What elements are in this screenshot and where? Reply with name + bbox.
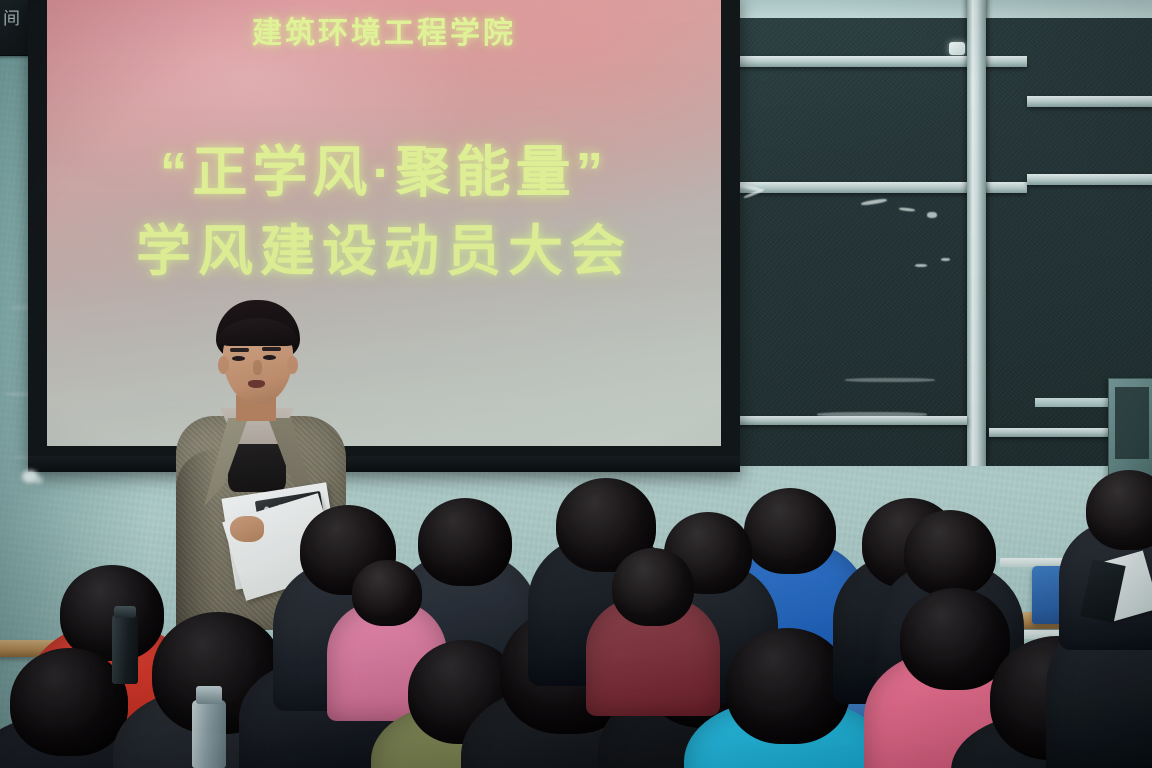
sliding-blackboard [727, 0, 1152, 466]
thermos-cap [114, 606, 136, 618]
wall-light-reflection [34, 476, 43, 484]
presenter-ear [287, 356, 298, 374]
chalk-smear [845, 378, 935, 382]
water-bottle [192, 700, 226, 768]
blackboard-rail [1027, 96, 1152, 107]
presenter-mouth [248, 380, 265, 388]
blackboard-rail [1027, 174, 1152, 185]
presenter-eye [232, 356, 245, 361]
student-pink-jacket-head [352, 560, 422, 626]
board-light-fixture [949, 42, 965, 55]
blackboard-mullion [967, 0, 986, 466]
screen-vignette [47, 0, 721, 446]
classroom-photo: 间 建筑环境工程学院 “正学风·聚能量” 学风建设动员大会 [0, 0, 1152, 768]
student-maroon-head [612, 548, 694, 626]
student-back-right-head [904, 510, 996, 596]
blackboard-texture [727, 0, 1152, 466]
projection-screen-surface: 建筑环境工程学院 “正学风·聚能量” 学风建设动员大会 [47, 0, 721, 446]
presenter-side-shadow [176, 450, 216, 630]
thermos-bottle [112, 614, 138, 684]
student-longhair-c-head [418, 498, 512, 586]
student-front-left-a-head [10, 648, 128, 756]
presenter-ear [218, 356, 229, 374]
presenter-nose [253, 360, 262, 375]
water-bottle-cap [196, 686, 222, 704]
presenter-eye [263, 355, 276, 360]
student-blue-jacket-head [744, 488, 836, 574]
chalk-mark [941, 258, 950, 261]
projection-screen: 建筑环境工程学院 “正学风·聚能量” 学风建设动员大会 [28, 0, 740, 472]
presenter-hand [230, 516, 264, 542]
presenter-eyebrow [230, 348, 249, 352]
speaker-grille [1115, 387, 1149, 459]
chalk-mark [915, 264, 927, 267]
chalk-mark [927, 212, 937, 218]
chalk-smear [817, 412, 927, 417]
blackboard-top-strip [727, 0, 1152, 18]
room-sign-glyph: 间 [3, 11, 20, 28]
blackboard-bottom-rail [727, 416, 967, 425]
student-cyan-jacket-head [726, 628, 850, 744]
presenter-eyebrow [262, 347, 281, 351]
